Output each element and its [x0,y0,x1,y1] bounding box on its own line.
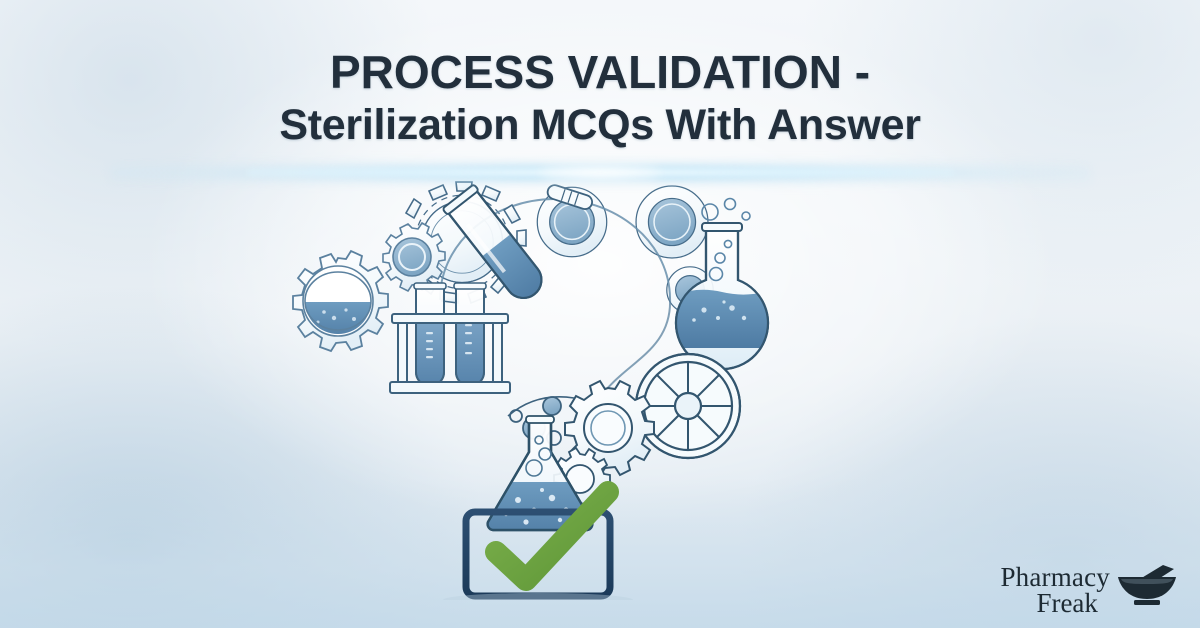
logo-wordmark: Pharmacy Freak [1000,565,1110,617]
spoked-wheel [636,354,740,458]
poster-title: PROCESS VALIDATION - Sterilization MCQs … [0,48,1200,148]
title-line-primary: PROCESS VALIDATION - [0,48,1200,97]
gear-with-liquid-left [293,251,388,351]
logo-line-2: Freak [1000,591,1110,617]
question-mark-illustration [0,180,1200,600]
pharmacy-freak-logo[interactable]: Pharmacy Freak [1000,563,1178,618]
poster-canvas: PROCESS VALIDATION - Sterilization MCQs … [0,0,1200,628]
logo-line-1: Pharmacy [1000,565,1110,591]
mortar-and-pestle-icon [1116,563,1178,614]
title-line-secondary: Sterilization MCQs With Answer [0,103,1200,149]
bubbles-above-flask [702,199,750,221]
